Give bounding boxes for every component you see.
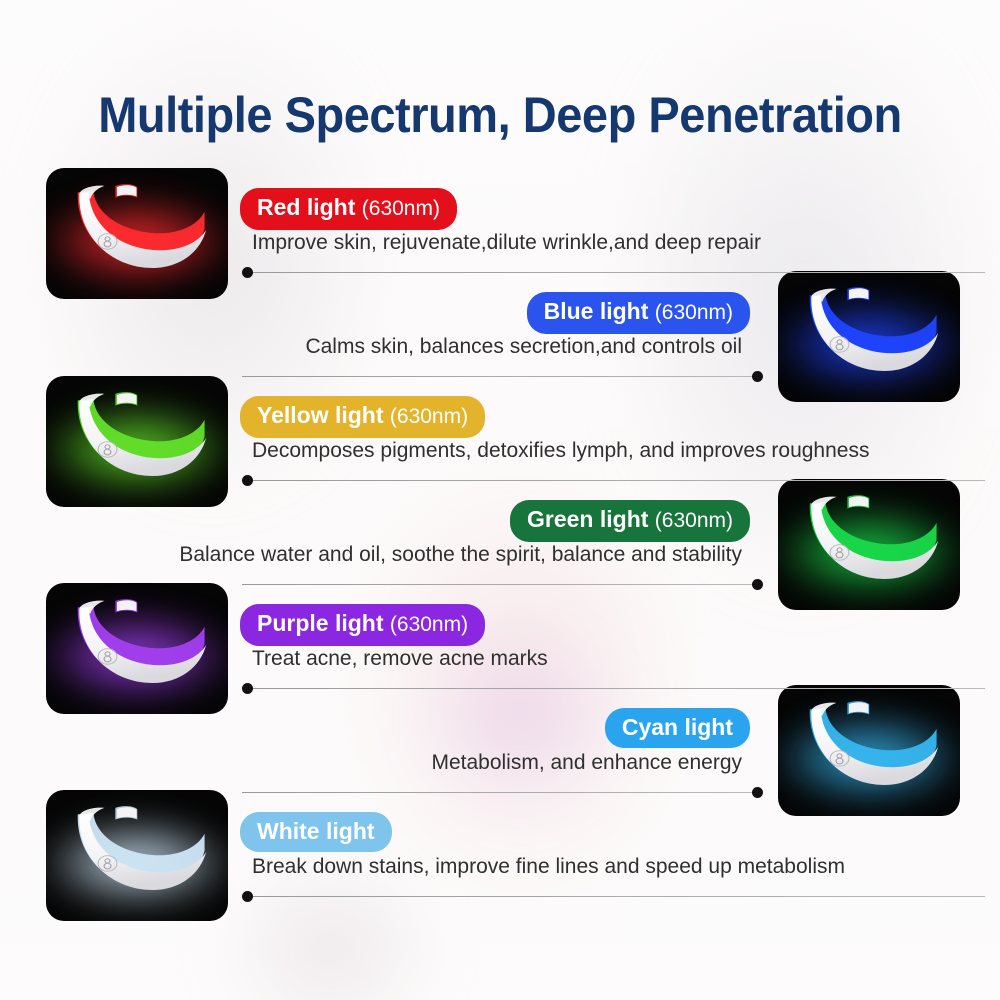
badge-red: Red light (630nm) xyxy=(240,188,457,230)
badge-white: White light xyxy=(240,812,392,852)
badge-label-white: White light xyxy=(257,818,375,844)
badge-wavelength-purple: (630nm) xyxy=(390,613,468,636)
connector-dot-white xyxy=(242,891,253,902)
badge-label-cyan: Cyan light xyxy=(622,714,733,740)
spectrum-row-cyan: Cyan light Metabolism, and enhance energ… xyxy=(0,708,1000,812)
badge-yellow: Yellow light (630nm) xyxy=(240,396,485,438)
badge-wavelength-yellow: (630nm) xyxy=(390,405,468,428)
badge-label-purple: Purple light xyxy=(257,610,384,636)
spectrum-row-white: White light Break down stains, improve f… xyxy=(0,812,1000,916)
description-blue: Calms skin, balances secretion,and contr… xyxy=(305,334,742,360)
description-cyan: Metabolism, and enhance energy xyxy=(431,750,742,776)
page-title: Multiple Spectrum, Deep Penetration xyxy=(30,86,970,144)
connector-dot-red xyxy=(242,267,253,278)
connector-line-purple xyxy=(248,688,985,689)
badge-wavelength-blue: (630nm) xyxy=(655,301,733,324)
connector-dot-cyan xyxy=(752,787,763,798)
product-infographic: Multiple Spectrum, Deep Penetration xyxy=(0,0,1000,1000)
badge-label-blue: Blue light xyxy=(544,298,649,324)
connector-line-yellow xyxy=(248,480,985,481)
spectrum-row-yellow: Yellow light (630nm) Decomposes pigments… xyxy=(0,396,1000,500)
badge-label-green: Green light xyxy=(527,506,648,532)
badge-wavelength-green: (630nm) xyxy=(655,509,733,532)
connector-dot-blue xyxy=(752,371,763,382)
description-yellow: Decomposes pigments, detoxifies lymph, a… xyxy=(252,438,869,464)
badge-cyan: Cyan light xyxy=(605,708,750,748)
spectrum-row-red: Red light (630nm) Improve skin, rejuvena… xyxy=(0,188,1000,292)
badge-green: Green light (630nm) xyxy=(510,500,750,542)
description-red: Improve skin, rejuvenate,dilute wrinkle,… xyxy=(252,230,761,256)
description-white: Break down stains, improve fine lines an… xyxy=(252,854,845,880)
connector-line-red xyxy=(248,272,985,273)
connector-dot-yellow xyxy=(242,475,253,486)
connector-line-blue xyxy=(242,376,758,377)
badge-blue: Blue light (630nm) xyxy=(527,292,750,334)
connector-line-green xyxy=(242,584,758,585)
connector-line-cyan xyxy=(242,792,758,793)
badge-label-red: Red light xyxy=(257,194,355,220)
description-purple: Treat acne, remove acne marks xyxy=(252,646,548,672)
connector-line-white xyxy=(248,896,985,897)
connector-dot-purple xyxy=(242,683,253,694)
spectrum-row-purple: Purple light (630nm) Treat acne, remove … xyxy=(0,604,1000,708)
badge-wavelength-red: (630nm) xyxy=(362,197,440,220)
connector-dot-green xyxy=(752,579,763,590)
badge-label-yellow: Yellow light xyxy=(257,402,384,428)
badge-purple: Purple light (630nm) xyxy=(240,604,485,646)
spectrum-row-blue: Blue light (630nm) Calms skin, balances … xyxy=(0,292,1000,396)
description-green: Balance water and oil, soothe the spirit… xyxy=(179,542,742,568)
spectrum-row-green: Green light (630nm) Balance water and oi… xyxy=(0,500,1000,604)
